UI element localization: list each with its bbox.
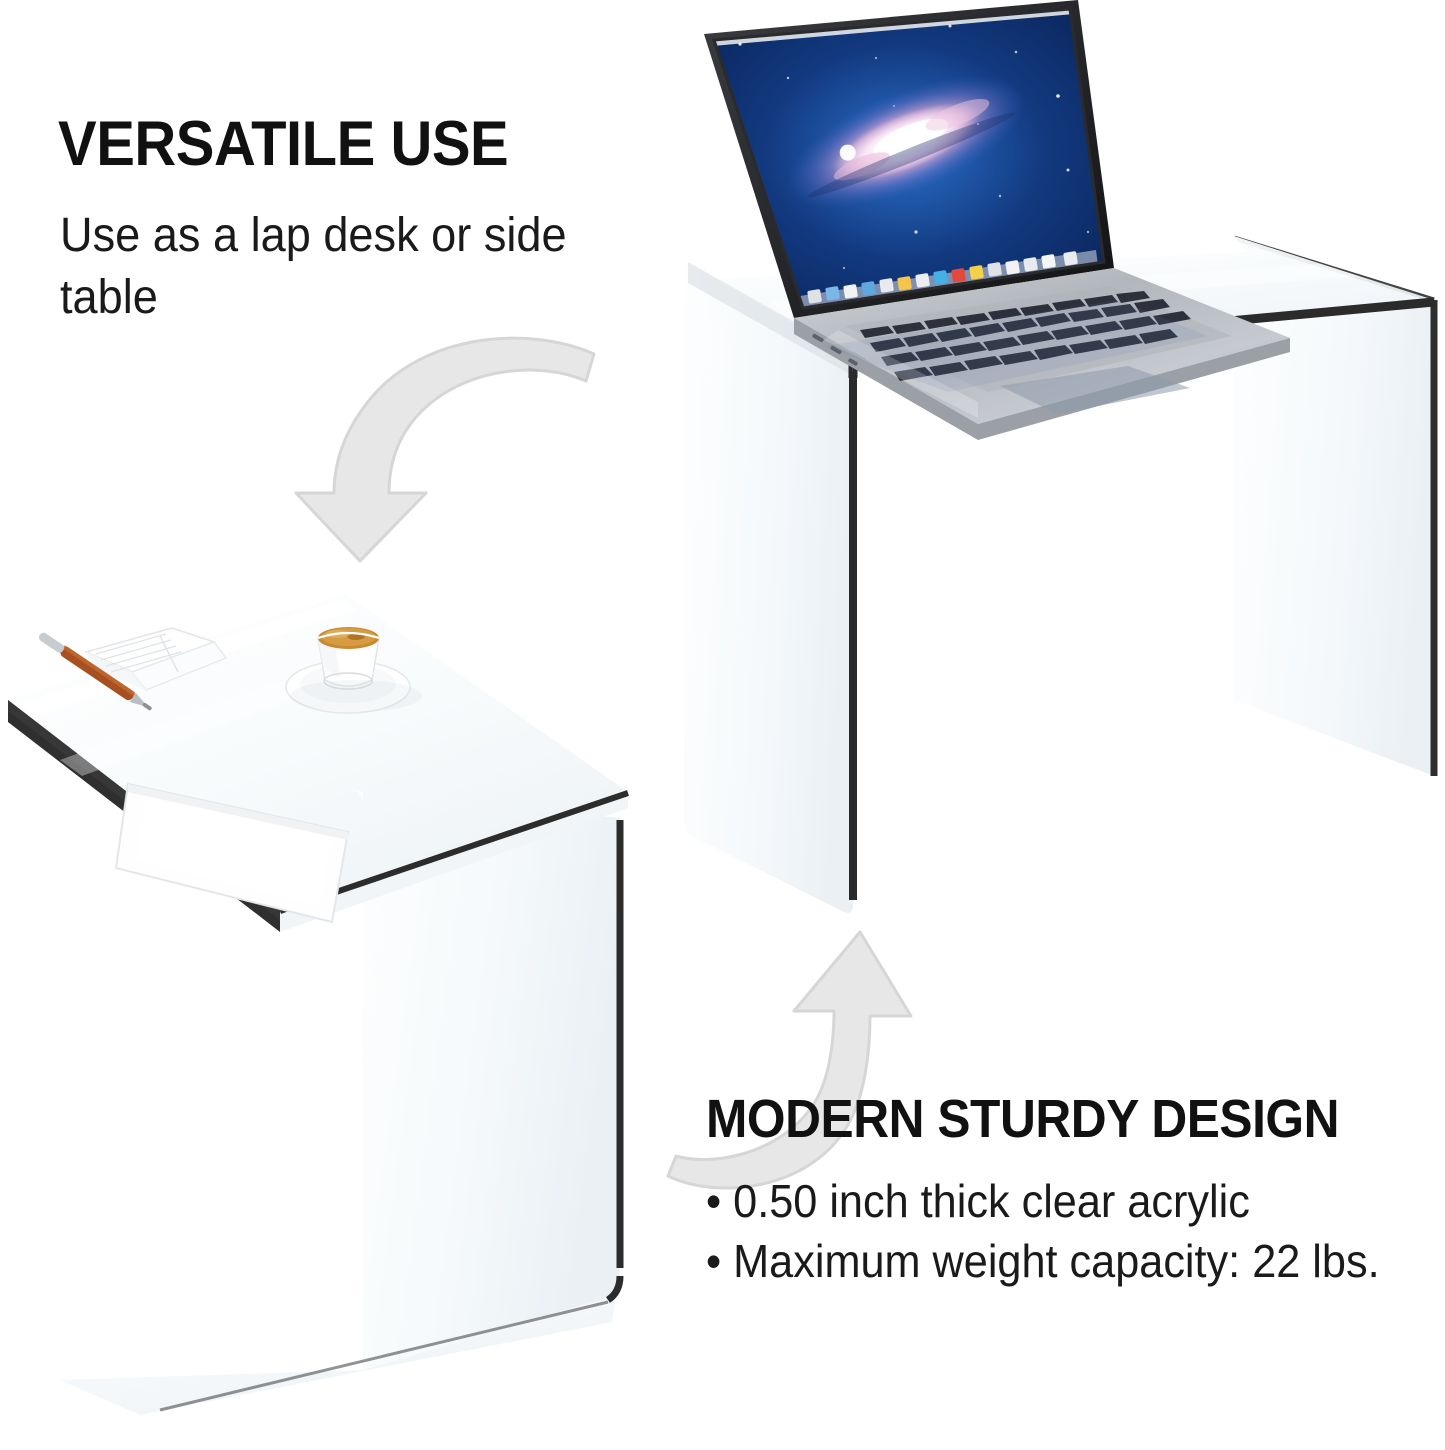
feature-headline-versatile-use: VERSATILE USE xyxy=(58,113,508,176)
acrylic-desk-with-laptop-illustration xyxy=(648,0,1445,930)
feature-headline-modern-sturdy-design: MODERN STURDY DESIGN xyxy=(706,1092,1339,1146)
feature-bullets-modern-sturdy-design: • 0.50 inch thick clear acrylic • Maximu… xyxy=(706,1172,1420,1292)
acrylic-side-table-illustration xyxy=(0,580,650,1415)
bullet-item-weight-capacity: • Maximum weight capacity: 22 lbs. xyxy=(706,1232,1420,1292)
bullet-item-thickness: • 0.50 inch thick clear acrylic xyxy=(706,1172,1420,1232)
infographic-canvas: VERSATILE USE Use as a lap desk or side … xyxy=(0,0,1445,1450)
curved-arrow-down-left-icon xyxy=(276,318,706,563)
feature-body-versatile-use: Use as a lap desk or side table xyxy=(60,205,586,330)
